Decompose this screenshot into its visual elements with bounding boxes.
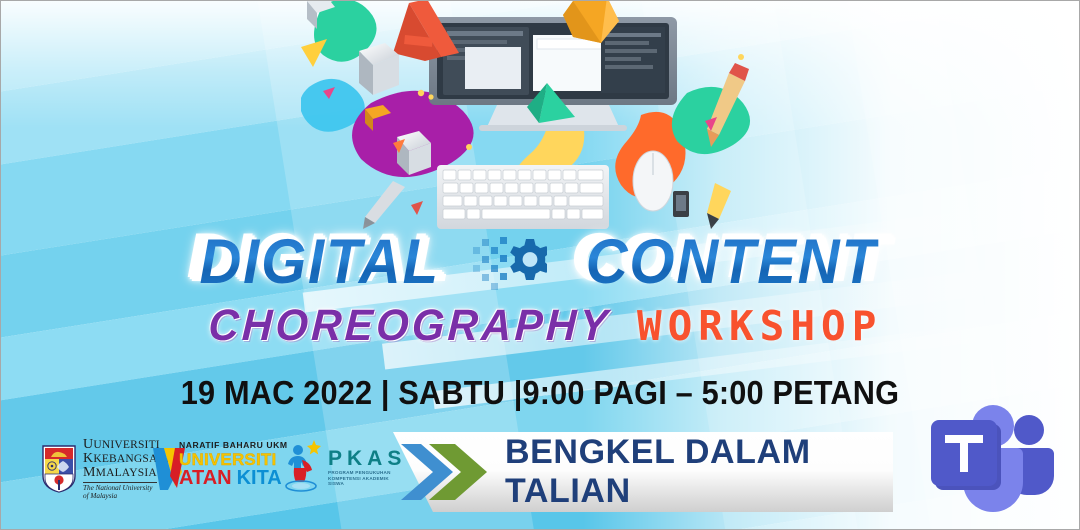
mouse-illustration bbox=[633, 151, 673, 211]
watan-atan: ATAN bbox=[179, 467, 232, 489]
watan-universiti: UNIVERSITI bbox=[179, 451, 288, 468]
gear-separator-icon bbox=[471, 231, 547, 293]
mode-label: BENGKEL DALAM TALIAN bbox=[505, 432, 885, 512]
accent-dot-2 bbox=[428, 94, 433, 99]
subtitle-choreography: CHOREOGRAPHY bbox=[207, 304, 611, 348]
title-digital: DIGITAL bbox=[199, 231, 439, 294]
event-datetime: 19 MAC 2022 | SABTU |9:00 PAGI – 5:00 PE… bbox=[39, 376, 1042, 409]
accent-dot-3 bbox=[466, 144, 472, 150]
pkas-subtitle-3: SISWA bbox=[328, 481, 400, 487]
microsoft-teams-logo bbox=[919, 400, 1059, 520]
ukm-divider bbox=[83, 482, 157, 483]
watan-row-2: ATANKITA bbox=[179, 468, 288, 490]
footer-logo-row: UUNIVERSITI KKEBANGSAAN MMALAYSIA The Na… bbox=[1, 424, 1080, 529]
subtitle-workshop: WORKSHOP bbox=[637, 304, 882, 348]
watan-kita: KITA bbox=[237, 467, 282, 489]
ukm-logo: UUNIVERSITI KKEBANGSAAN MMALAYSIA The Na… bbox=[41, 438, 169, 500]
mode-ribbon: BENGKEL DALAM TALIAN bbox=[393, 432, 893, 512]
ukm-crest-icon bbox=[41, 444, 77, 494]
watan-kita-logo: NARATIF BAHARU UKM UNIVERSITI ATANKITA bbox=[151, 440, 271, 496]
promotional-banner: DIGITAL DIGITAL bbox=[0, 0, 1080, 530]
microsoft-teams-icon bbox=[919, 400, 1059, 520]
keyboard-illustration bbox=[437, 165, 609, 229]
subtitle: CHOREOGRAPHYWORKSHOP bbox=[1, 304, 1079, 348]
creative-design-illustration bbox=[301, 0, 771, 230]
pkas-figure-icon bbox=[284, 438, 326, 494]
accent-dot-4 bbox=[738, 54, 744, 60]
title-content: CONTENT bbox=[586, 231, 879, 294]
pkas-subtitle-1: PROGRAM PENGUKUHAN bbox=[328, 470, 400, 476]
watan-kita-text: NARATIF BAHARU UKM UNIVERSITI ATANKITA bbox=[179, 440, 288, 490]
chevron-arrow-icon bbox=[399, 440, 499, 504]
red-triangle bbox=[411, 201, 423, 215]
accent-dot-1 bbox=[418, 90, 424, 96]
title-digital-wrap: DIGITAL DIGITAL bbox=[189, 227, 450, 294]
pkas-logo: PKAS PROGRAM PENGUKUHAN KOMPETENSI AKADE… bbox=[284, 438, 396, 496]
main-title: DIGITAL DIGITAL bbox=[1, 227, 1079, 294]
title-content-wrap: CONTENT CONTENT bbox=[573, 227, 891, 294]
